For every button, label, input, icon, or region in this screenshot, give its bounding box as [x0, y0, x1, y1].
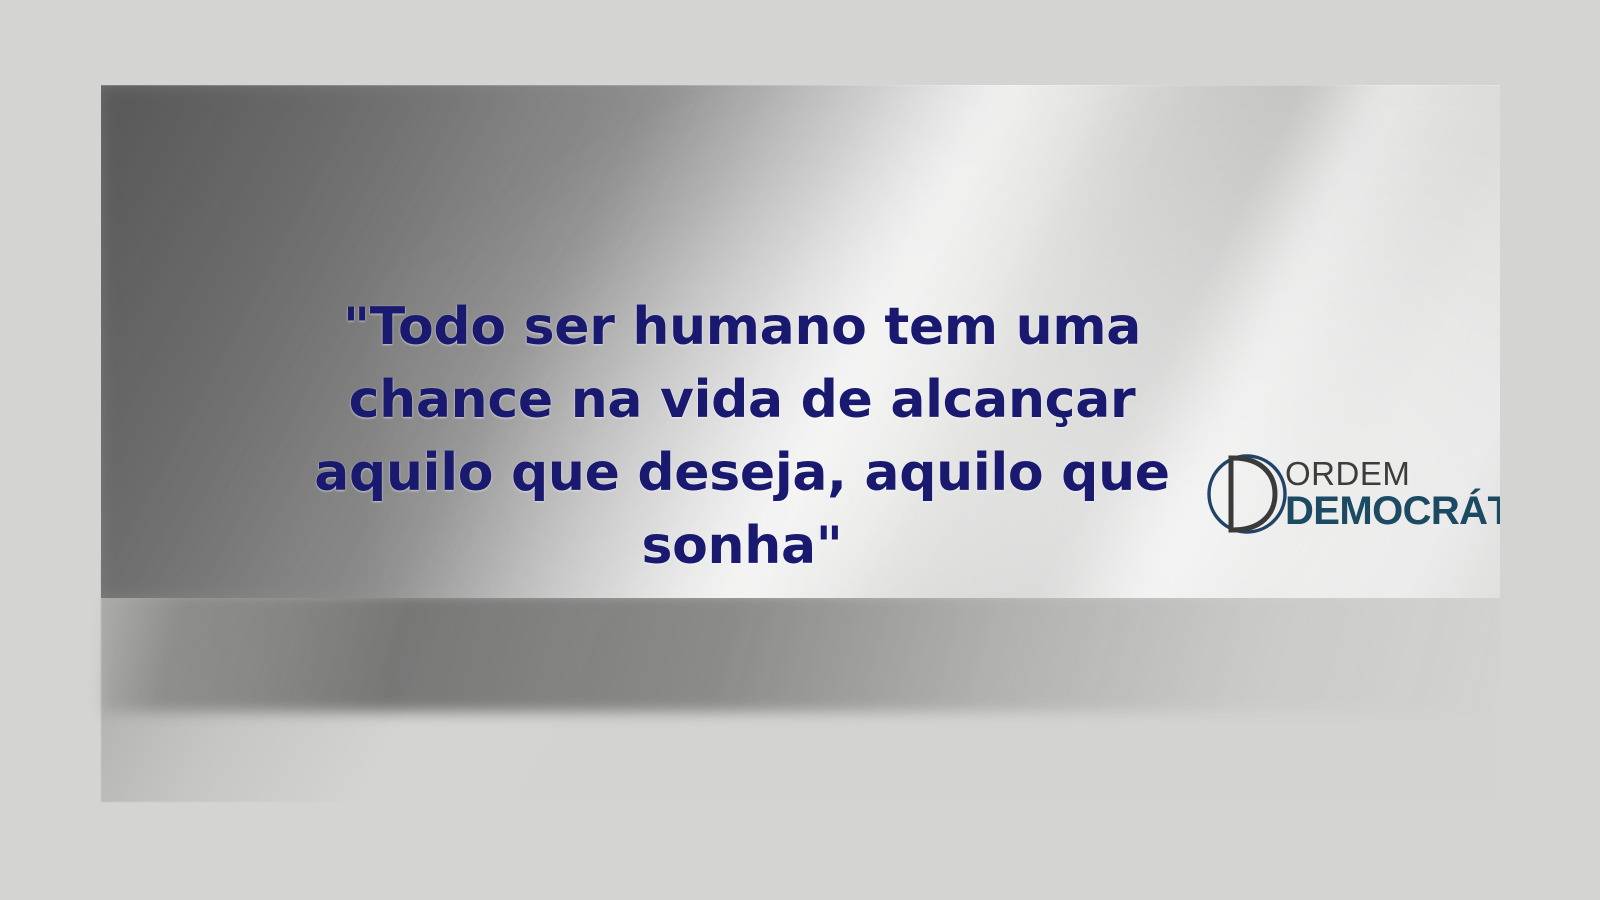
logo-wordmark: ORDEM DEMOCRÁTICA [1285, 457, 1500, 531]
screenshot-root: "Todo ser humano tem uma chance na vida … [0, 0, 1600, 900]
quote-text: "Todo ser humano tem uma chance na vida … [311, 291, 1173, 583]
card-content: "Todo ser humano tem uma chance na vida … [101, 85, 1500, 598]
quote-block: "Todo ser humano tem uma chance na vida … [311, 291, 1173, 583]
circle-d-icon [1203, 448, 1295, 540]
logo-line-ordem: ORDEM [1285, 457, 1500, 490]
brand-logo: ORDEM DEMOCRÁTICA [1203, 447, 1500, 541]
quote-banner-card: "Todo ser humano tem uma chance na vida … [101, 85, 1500, 598]
logo-line-democratica: DEMOCRÁTICA [1285, 491, 1500, 531]
